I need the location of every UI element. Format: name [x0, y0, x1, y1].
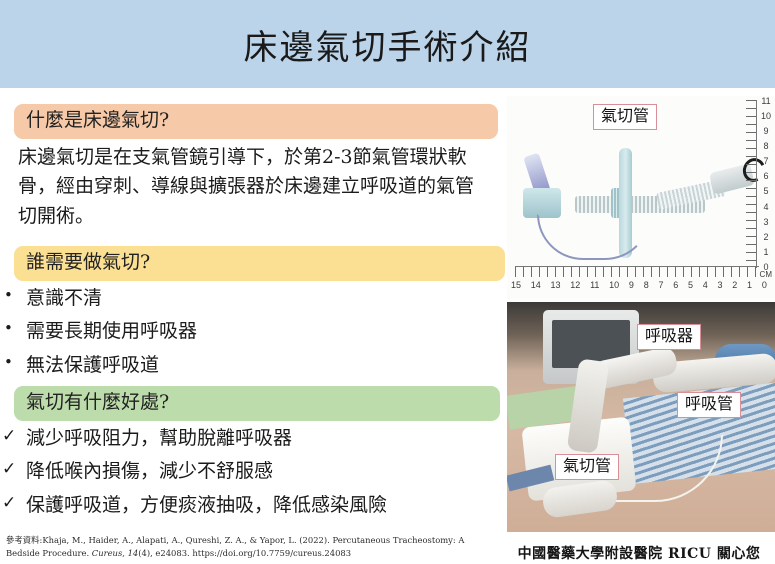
ruler-horizontal-ticks [515, 266, 759, 277]
bullet-dot-icon: • [0, 352, 26, 373]
ruler-tick-label: 7 [763, 156, 768, 166]
benefits-list: ✓ 減少呼吸阻力，幫助脫離呼吸器 ✓ 降低喉內損傷，減少不舒服感 ✓ 保護呼吸道… [0, 425, 505, 519]
photo-label-trach-tube-top: 氣切管 [593, 104, 657, 130]
ruler-tick-label: 15 [511, 280, 521, 294]
photo-label-trach-tube-bottom: 氣切管 [555, 454, 619, 480]
content-column: 什麼是床邊氣切? 床邊氣切是在支氣管鏡引導下，於第2-3節氣管環狀軟骨，經由穿刺… [0, 88, 505, 528]
bullet-dot-icon: • [0, 285, 26, 306]
organization-footer: 中國醫藥大學附設醫院 RICU 關心您 [505, 543, 773, 563]
ruler-horizontal-numbers: 0 1 2 3 4 5 6 7 8 9 10 11 12 13 14 15 [511, 280, 767, 294]
check-icon: ✓ [0, 492, 26, 516]
section-what-is-bedside-tracheostomy: 什麼是床邊氣切? 床邊氣切是在支氣管鏡引導下，於第2-3節氣管環狀軟骨，經由穿刺… [0, 104, 505, 231]
slide-title-banner: 床邊氣切手術介紹 [0, 0, 775, 88]
section-body-what-is: 床邊氣切是在支氣管鏡引導下，於第2-3節氣管環狀軟骨，經由穿刺、導線與擴張器於床… [18, 143, 492, 231]
ruler-tick-label: 3 [718, 280, 723, 294]
photo-column: 0 1 2 3 4 5 6 7 8 9 10 11 0 1 2 3 4 5 [507, 96, 775, 532]
cuff-line-shape [611, 434, 723, 502]
ruler-tick-label: 4 [763, 202, 768, 212]
list-item: • 需要長期使用呼吸器 [0, 318, 505, 345]
ruler-tick-label: 10 [609, 280, 619, 294]
list-item: ✓ 減少呼吸阻力，幫助脫離呼吸器 [0, 425, 505, 452]
reference-citation: 參考資料:Khaja, M., Haider, A., Alapati, A.,… [6, 534, 498, 559]
ruler-tick-label: 11 [761, 96, 770, 106]
ruler-tick-label: 1 [763, 247, 768, 257]
ruler-tick-label: 3 [763, 217, 768, 227]
ruler-tick-label: 11 [590, 280, 599, 294]
list-item: ✓ 降低喉內損傷，減少不舒服感 [0, 458, 505, 485]
ruler-tick-label: 10 [761, 111, 771, 121]
list-item-label: 保護呼吸道，方便痰液抽吸，降低感染風險 [26, 492, 505, 519]
photo-label-breathing-tube: 呼吸管 [677, 392, 741, 418]
ruler-unit-label: CM [760, 270, 772, 279]
list-item: • 意識不清 [0, 285, 505, 312]
section-header-what-is: 什麼是床邊氣切? [14, 104, 498, 139]
check-icon: ✓ [0, 458, 26, 482]
list-item-label: 意識不清 [26, 285, 505, 312]
tracheostomy-tube-photo: 0 1 2 3 4 5 6 7 8 9 10 11 0 1 2 3 4 5 [507, 96, 775, 299]
ruler-tick-label: 1 [747, 280, 752, 294]
list-item-label: 需要長期使用呼吸器 [26, 318, 505, 345]
section-header-benefits: 氣切有什麼好處? [14, 386, 500, 421]
ruler-tick-label: 9 [629, 280, 634, 294]
ruler-tick-label: 8 [644, 280, 649, 294]
reference-suffix: (4), e24083. https://doi.org/10.7759/cur… [138, 548, 351, 558]
ruler-tick-label: 6 [673, 280, 678, 294]
section-header-who-needs: 誰需要做氣切? [14, 246, 505, 281]
ruler-tick-label: 13 [551, 280, 561, 294]
ruler-tick-label: 4 [703, 280, 708, 294]
list-item: ✓ 保護呼吸道，方便痰液抽吸，降低感染風險 [0, 492, 505, 519]
ruler-tick-label: 14 [531, 280, 541, 294]
bullet-dot-icon: • [0, 318, 26, 339]
ruler-vertical-numbers: 0 1 2 3 4 5 6 7 8 9 10 11 [759, 96, 773, 272]
page-title: 床邊氣切手術介紹 [244, 20, 532, 69]
who-needs-list: • 意識不清 • 需要長期使用呼吸器 • 無法保護呼吸道 [0, 285, 505, 379]
ruler-tick-label: 0 [762, 280, 767, 294]
reference-journal: Cureus, 14 [92, 548, 138, 558]
ruler-tick-label: 8 [763, 141, 768, 151]
ruler-tick-label: 5 [763, 186, 768, 196]
ruler-tick-label: 9 [763, 126, 768, 136]
ruler-tick-label: 5 [688, 280, 693, 294]
section-who-needs-tracheostomy: 誰需要做氣切? • 意識不清 • 需要長期使用呼吸器 • 無法保護呼吸道 [0, 246, 505, 385]
section-tracheostomy-benefits: 氣切有什麼好處? ✓ 減少呼吸阻力，幫助脫離呼吸器 ✓ 降低喉內損傷，減少不舒服… [0, 386, 505, 525]
ruler-tick-label: 7 [658, 280, 663, 294]
check-icon: ✓ [0, 425, 26, 449]
ruler-tick-label: 2 [763, 232, 768, 242]
list-item: • 無法保護呼吸道 [0, 352, 505, 379]
list-item-label: 降低喉內損傷，減少不舒服感 [26, 458, 505, 485]
ruler-tick-label: 2 [732, 280, 737, 294]
bedside-ventilator-photo: 呼吸器 呼吸管 氣切管 [507, 302, 775, 532]
tube-inflation-line [537, 214, 651, 260]
ruler-vertical-ticks [746, 100, 757, 268]
list-item-label: 減少呼吸阻力，幫助脫離呼吸器 [26, 425, 505, 452]
list-item-label: 無法保護呼吸道 [26, 352, 505, 379]
ruler-tick-label: 6 [763, 171, 768, 181]
ruler-tick-label: 12 [570, 280, 580, 294]
photo-label-ventilator: 呼吸器 [637, 324, 701, 350]
